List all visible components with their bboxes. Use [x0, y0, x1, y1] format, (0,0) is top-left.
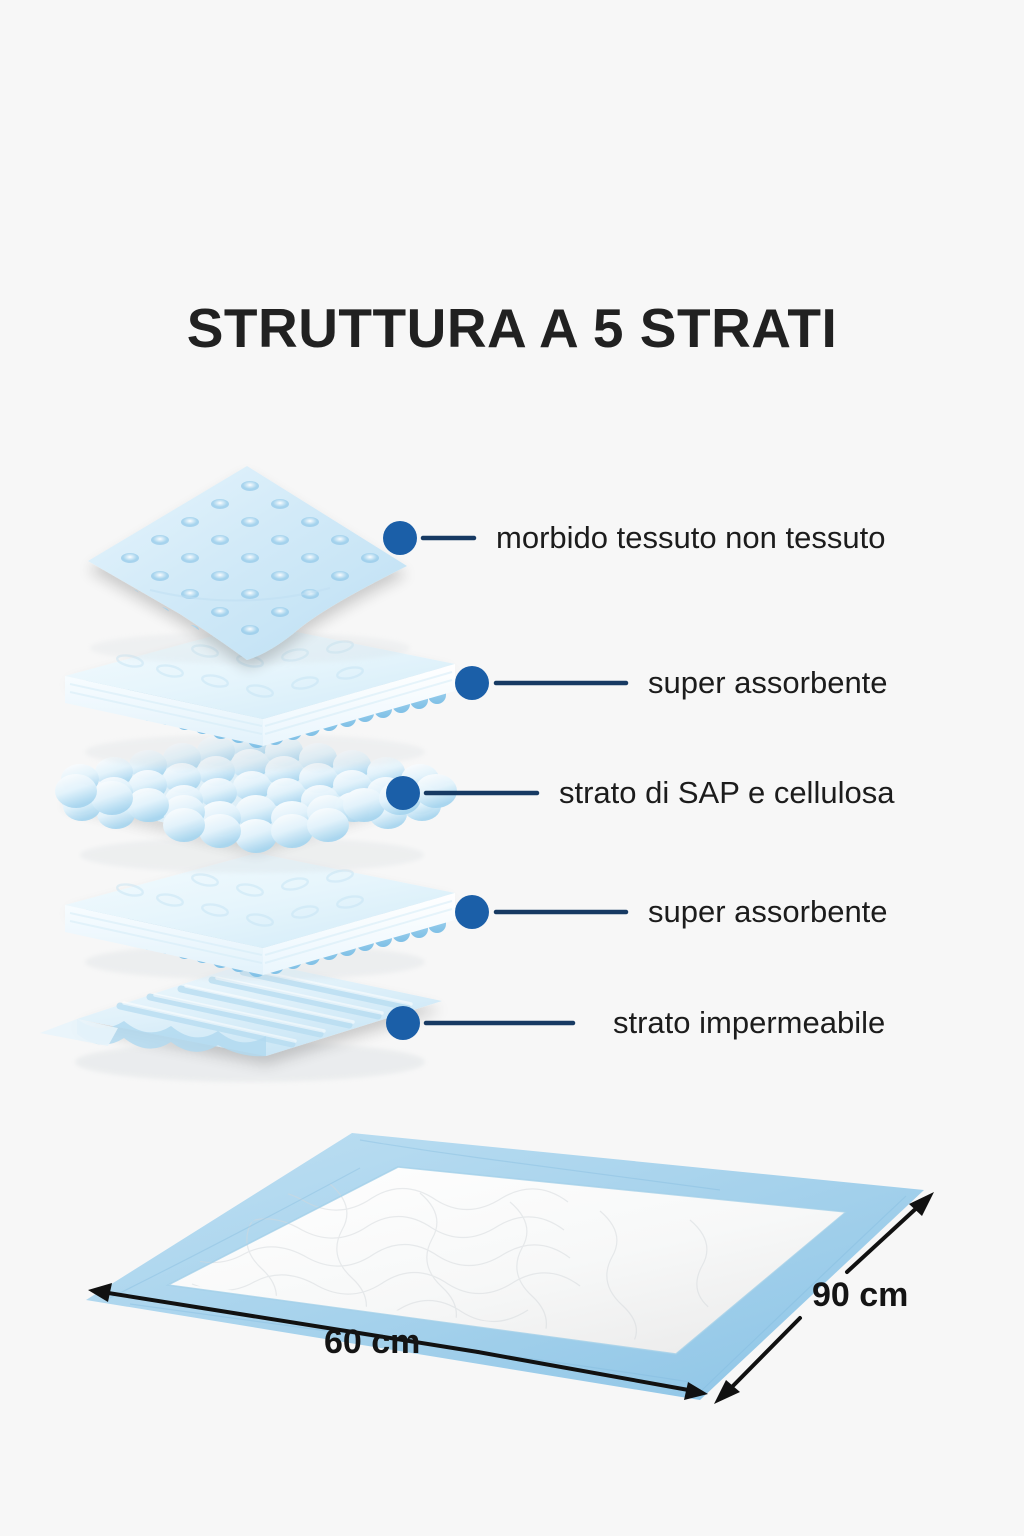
infographic-canvas: STRUTTURA A 5 STRATI	[0, 0, 1024, 1536]
dimension-arrows	[88, 1192, 934, 1404]
page-title: STRUTTURA A 5 STRATI	[0, 296, 1024, 360]
layer-waterproof-backsheet	[40, 961, 442, 1082]
callout-connector-3	[386, 776, 537, 810]
callout-label-absorbent-upper: super assorbente	[648, 667, 888, 698]
topsheet-perforations	[91, 463, 399, 635]
callout-connector-2	[455, 666, 626, 700]
slab-upper-fringe	[86, 666, 446, 748]
layer-perforated-topsheet	[88, 463, 410, 664]
layer-sap-cellulose-core	[55, 729, 457, 873]
callout-label-sap-core: strato di SAP e cellulosa	[559, 777, 894, 808]
sap-bead-field	[55, 729, 457, 853]
callout-connector-1	[383, 521, 474, 555]
callout-label-waterproof: strato impermeabile	[613, 1007, 885, 1038]
dimension-label-width: 60 cm	[324, 1325, 420, 1359]
layer-absorbent-slab-upper	[65, 624, 455, 770]
callout-label-absorbent-lower: super assorbente	[648, 896, 888, 927]
product-pad	[86, 1133, 924, 1400]
dimension-label-depth: 90 cm	[812, 1278, 908, 1312]
callout-connector-5	[386, 1006, 573, 1040]
layer-absorbent-slab-lower	[65, 853, 455, 980]
callout-label-topsheet: morbido tessuto non tessuto	[496, 522, 885, 553]
slab-lower-fringe	[86, 895, 446, 977]
callout-connector-4	[455, 895, 626, 929]
